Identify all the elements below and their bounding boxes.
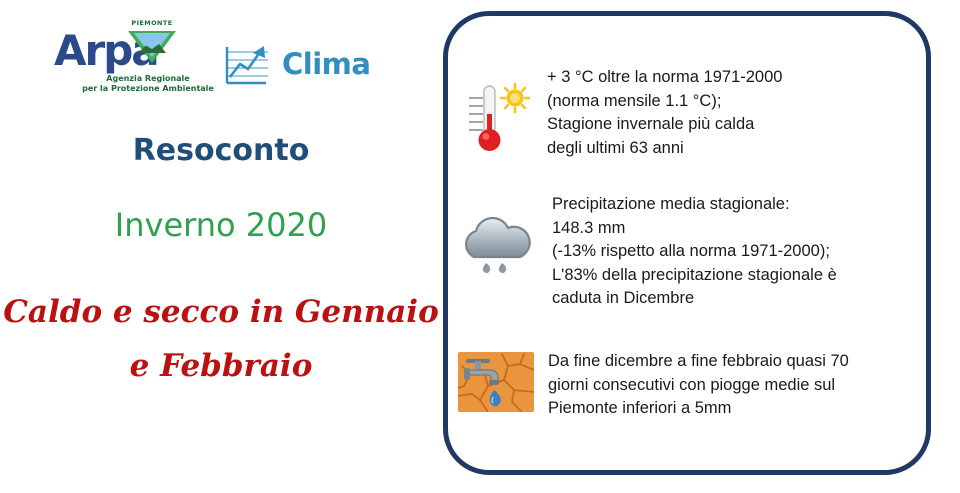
page-title-report: Resoconto bbox=[0, 133, 442, 168]
left-column: Arpa PIEMONTE Agenzia Regionale per la P… bbox=[0, 0, 442, 493]
fact-precipitation-text: Precipitazione media stagionale: 148.3 m… bbox=[552, 191, 837, 311]
summary-panel: + 3 °C oltre la norma 1971-2000 (norma m… bbox=[443, 11, 931, 475]
piemonte-label: PIEMONTE bbox=[130, 19, 174, 27]
arpa-piemonte-logo: Arpa PIEMONTE Agenzia Regionale per la P… bbox=[54, 22, 214, 100]
arpa-subtitle: Agenzia Regionale per la Protezione Ambi… bbox=[78, 74, 218, 94]
page-title-season: Inverno 2020 bbox=[0, 206, 442, 244]
logo-row: Arpa PIEMONTE Agenzia Regionale per la P… bbox=[48, 22, 388, 102]
fact-drought: Da fine dicembre a fine febbraio quasi 7… bbox=[458, 346, 849, 421]
line-chart-rising-icon bbox=[220, 44, 272, 88]
thermometer-sun-icon bbox=[463, 78, 533, 156]
fact-precipitation: Precipitazione media stagionale: 148.3 m… bbox=[456, 191, 837, 311]
fact-temperature: + 3 °C oltre la norma 1971-2000 (norma m… bbox=[463, 64, 782, 160]
badge-triangle-inner bbox=[134, 33, 170, 57]
page-headline: Caldo e secco in Gennaio e Febbraio bbox=[0, 285, 442, 393]
fact-drought-text: Da fine dicembre a fine febbraio quasi 7… bbox=[548, 346, 849, 421]
fact-temperature-text: + 3 °C oltre la norma 1971-2000 (norma m… bbox=[547, 64, 782, 160]
piemonte-badge-icon: PIEMONTE bbox=[128, 21, 176, 67]
rain-cloud-icon bbox=[456, 215, 538, 281]
clima-logo: Clima bbox=[220, 44, 382, 92]
clima-wordmark: Clima bbox=[282, 47, 370, 81]
drought-faucet-icon bbox=[458, 352, 534, 412]
